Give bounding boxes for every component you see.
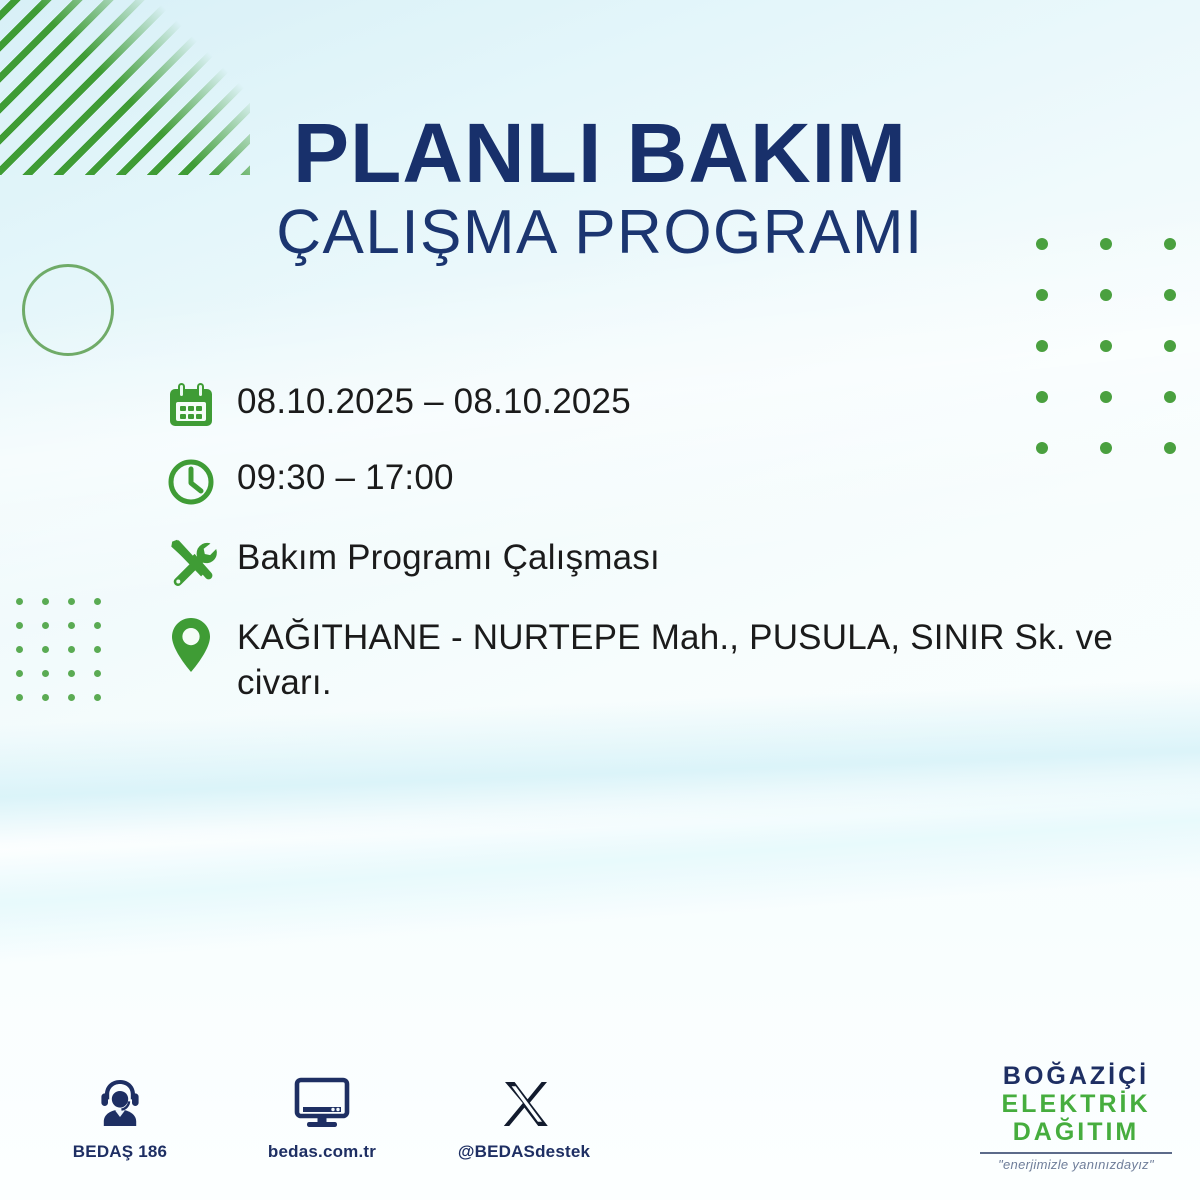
detail-row-work-type: Bakım Programı Çalışması [165, 534, 1175, 590]
poster-title-block: PLANLI BAKIM ÇALIŞMA PROGRAMI [0, 112, 1200, 267]
outage-details-list: 08.10.2025 – 08.10.2025 09:30 – 17:00 [165, 378, 1175, 720]
calendar-icon [165, 378, 237, 432]
poster-footer: BEDAŞ 186 bedas.com.tr [0, 1056, 1200, 1200]
detail-value-work-type: Bakım Programı Çalışması [237, 534, 660, 581]
contact-channels: BEDAŞ 186 bedas.com.tr [52, 1070, 592, 1162]
clock-icon [165, 454, 237, 508]
contact-phone-label: BEDAŞ 186 [52, 1142, 188, 1162]
dot-grid-left-decoration [16, 598, 120, 718]
detail-row-date: 08.10.2025 – 08.10.2025 [165, 378, 1175, 432]
page-title: PLANLI BAKIM [0, 112, 1200, 194]
detail-value-date: 08.10.2025 – 08.10.2025 [237, 378, 631, 425]
detail-row-time: 09:30 – 17:00 [165, 454, 1175, 508]
detail-value-location: KAĞITHANE - NURTEPE Mah., PUSULA, SINIR … [237, 614, 1137, 706]
detail-value-time: 09:30 – 17:00 [237, 454, 454, 501]
detail-row-location: KAĞITHANE - NURTEPE Mah., PUSULA, SINIR … [165, 614, 1175, 706]
headset-support-icon [52, 1070, 188, 1132]
planned-maintenance-poster: PLANLI BAKIM ÇALIŞMA PROGRAMI [0, 0, 1200, 1200]
x-twitter-icon [456, 1070, 592, 1132]
logo-divider [980, 1152, 1172, 1154]
page-subtitle: ÇALIŞMA PROGRAMI [0, 200, 1200, 267]
logo-line-1: BOĞAZİÇİ [976, 1062, 1176, 1090]
logo-tagline: "enerjimizle yanınızdayız" [976, 1157, 1176, 1172]
circle-outline-decoration [22, 264, 114, 356]
monitor-icon [254, 1070, 390, 1132]
contact-social-label: @BEDASdestek [456, 1142, 592, 1162]
logo-line-2: ELEKTRİK [976, 1090, 1176, 1118]
background-sheen-band-lower [0, 748, 1200, 972]
bedas-logo: BOĞAZİÇİ ELEKTRİK DAĞITIM "enerjimizle y… [976, 1062, 1176, 1172]
map-pin-icon [165, 614, 237, 674]
contact-website-label: bedas.com.tr [254, 1142, 390, 1162]
contact-phone[interactable]: BEDAŞ 186 [52, 1070, 188, 1162]
logo-line-3: DAĞITIM [976, 1118, 1176, 1146]
contact-website[interactable]: bedas.com.tr [254, 1070, 390, 1162]
tools-icon [165, 534, 237, 590]
contact-social[interactable]: @BEDASdestek [456, 1070, 592, 1162]
